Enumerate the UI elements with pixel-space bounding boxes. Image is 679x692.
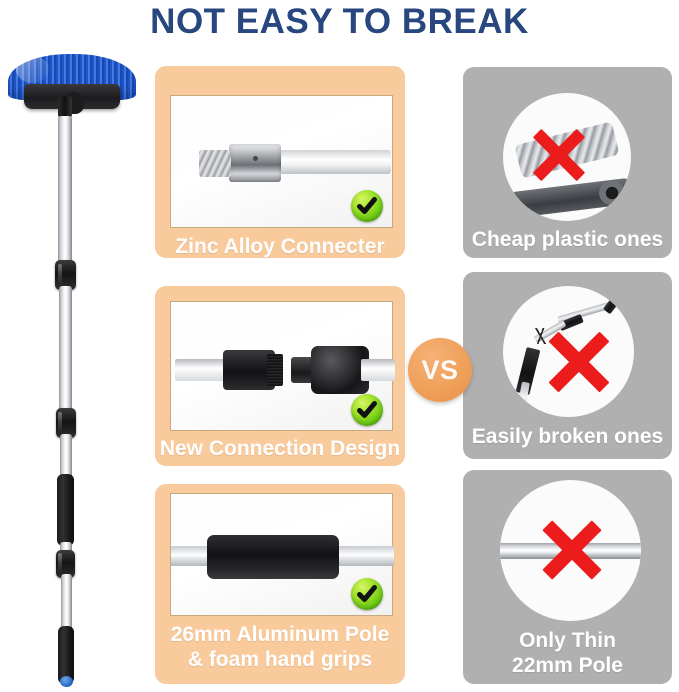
bad-photo-cheap-plastic-ones	[503, 93, 631, 221]
bracket-eyelet	[599, 181, 625, 205]
bad-label-only-thin-22mm-pole: Only Thin 22mm Pole	[463, 628, 672, 678]
good-photo-zinc-alloy-connecter	[170, 95, 393, 228]
good-photo-new-connection-design	[170, 301, 393, 431]
check-badge-icon	[351, 578, 383, 610]
good-photo-aluminum-pole-foam-grips	[170, 493, 393, 616]
bad-panel-only-thin-22mm-pole: Only Thin 22mm Pole	[463, 470, 672, 684]
red-x-icon	[536, 514, 608, 586]
zinc-alloy-collar	[229, 144, 281, 182]
good-panel-zinc-alloy-connecter: Zinc Alloy Connecter	[155, 66, 405, 258]
bad-label-cheap-plastic-ones: Cheap plastic ones	[463, 227, 672, 252]
vs-badge: VS	[408, 338, 472, 402]
connector-pin-hole	[253, 156, 258, 161]
connection-left-threads	[267, 354, 283, 386]
bad-photo-only-thin-22mm-pole	[500, 480, 641, 621]
check-badge-icon	[351, 394, 383, 426]
red-x-icon	[543, 326, 615, 398]
comparison-area: Zinc Alloy Connecter New Connection Desi…	[0, 0, 679, 692]
bad-label-easily-broken-ones: Easily broken ones	[463, 424, 672, 449]
good-panel-aluminum-pole-foam-grips: 26mm Aluminum Pole & foam hand grips	[155, 484, 405, 684]
bad-panel-cheap-plastic-ones: Cheap plastic ones	[463, 67, 672, 258]
good-panel-new-connection-design: New Connection Design	[155, 286, 405, 466]
bad-photo-easily-broken-ones	[503, 286, 634, 417]
red-x-icon	[527, 123, 591, 187]
foam-hand-grip	[207, 535, 339, 579]
vs-label: VS	[408, 338, 472, 402]
good-label-aluminum-pole-foam-grips: 26mm Aluminum Pole & foam hand grips	[155, 622, 405, 672]
check-badge-icon	[351, 190, 383, 222]
connector-threads	[199, 150, 231, 177]
connector-pole-shaft	[263, 150, 391, 174]
good-label-new-connection-design: New Connection Design	[155, 436, 405, 461]
good-label-zinc-alloy-connecter: Zinc Alloy Connecter	[155, 234, 405, 259]
bad-panel-easily-broken-ones: Easily broken ones	[463, 272, 672, 459]
connection-right-pole	[361, 359, 395, 381]
